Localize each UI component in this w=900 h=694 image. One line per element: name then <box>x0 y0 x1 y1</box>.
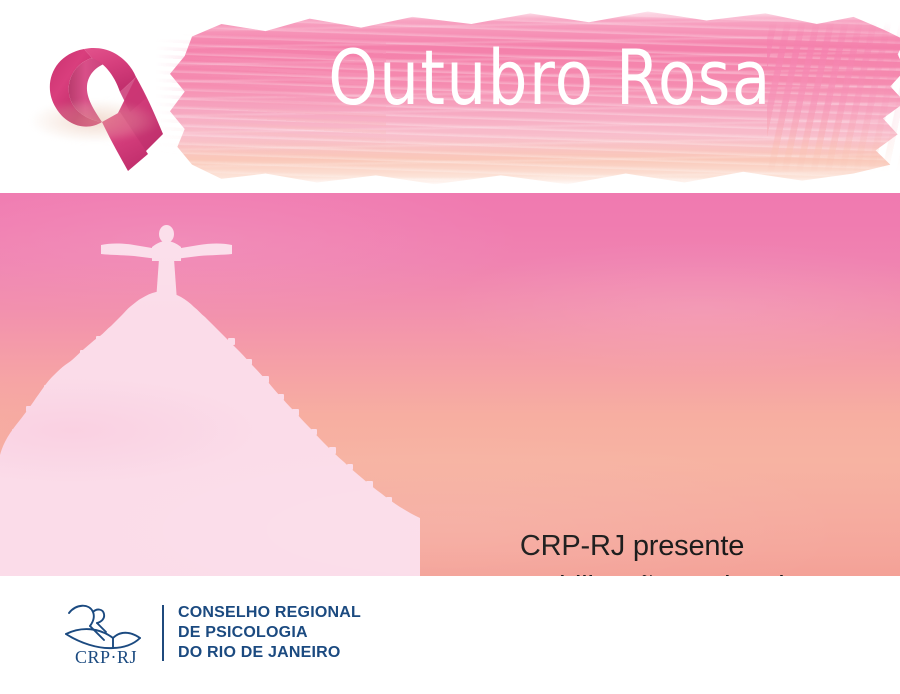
headline-line-2: na mobilização nacional <box>432 567 832 576</box>
org-name-line-1: CONSELHO REGIONAL <box>178 603 361 623</box>
outubro-rosa-poster: Outubro Rosa <box>0 0 900 694</box>
main-visual-panel: CRP-RJ presente na mobilização nacional … <box>0 193 900 576</box>
crp-rj-bird-book-logo-icon: CRP·RJ <box>60 600 152 666</box>
logo-divider <box>162 605 164 661</box>
crp-rj-brand-block: CRP·RJ CONSELHO REGIONAL DE PSICOLOGIA D… <box>60 600 361 666</box>
headline: CRP-RJ presente na mobilização nacional … <box>432 526 832 576</box>
org-name-line-3: DO RIO DE JANEIRO <box>178 643 361 663</box>
page-title: Outubro Rosa <box>320 40 780 116</box>
christ-the-redeemer-silhouette-icon <box>0 193 420 576</box>
banner: Outubro Rosa <box>0 0 900 193</box>
pink-awareness-ribbon-icon <box>24 22 204 187</box>
corcovado-svg <box>0 193 420 576</box>
brush-wisp-right <box>767 22 900 172</box>
crp-rj-wordmark: CRP·RJ <box>75 647 137 666</box>
footer: CRP·RJ CONSELHO REGIONAL DE PSICOLOGIA D… <box>0 576 900 694</box>
org-name-line-2: DE PSICOLOGIA <box>178 623 361 643</box>
organization-name: CONSELHO REGIONAL DE PSICOLOGIA DO RIO D… <box>178 603 361 663</box>
headline-line-1: CRP-RJ presente <box>432 526 832 567</box>
ribbon-shadow <box>32 100 158 142</box>
